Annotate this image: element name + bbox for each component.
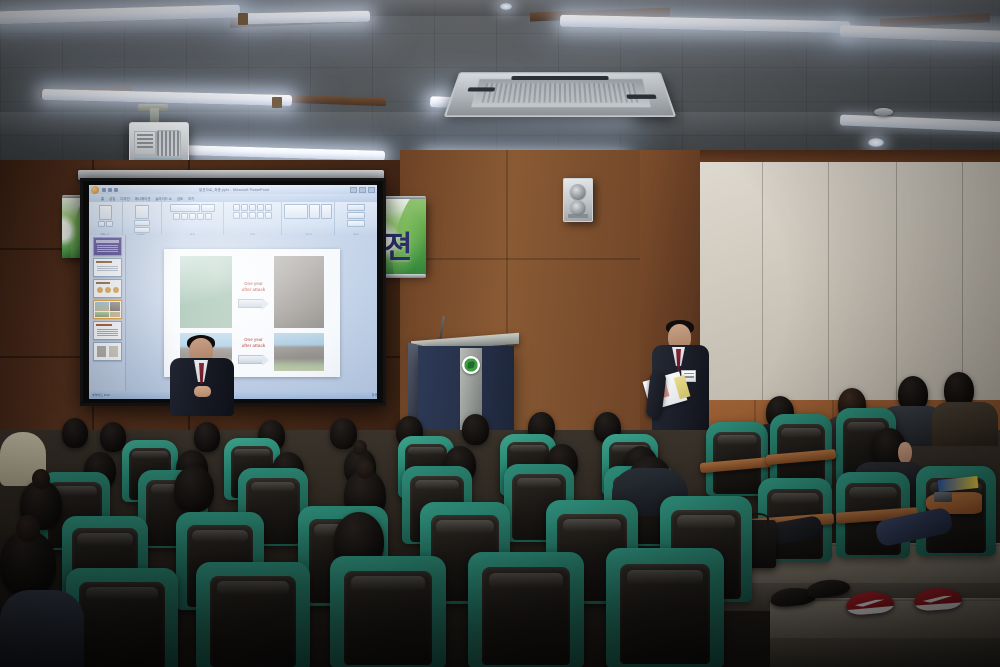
- shadow-button[interactable]: [197, 213, 204, 220]
- slide-image-aerial-after: [274, 256, 324, 328]
- clipboard-small-buttons[interactable]: [98, 221, 113, 227]
- ribbon-group-paragraph[interactable]: 단락: [224, 202, 282, 237]
- seat[interactable]: [606, 548, 724, 667]
- audience-face: [898, 442, 912, 464]
- ribbon-group-drawing[interactable]: 그리기: [282, 202, 335, 237]
- mobile-phone: [934, 492, 952, 502]
- lecture-hall-photo: 젼 발표자료_최종.pptx - Microsoft PowerPoint: [0, 0, 1000, 667]
- paragraph-row-2[interactable]: [233, 212, 272, 219]
- seat-gloss: [192, 530, 248, 543]
- slide-thumbnail[interactable]: [93, 237, 122, 256]
- slide-caption-top: One year after attack: [236, 281, 272, 292]
- select-button[interactable]: [347, 220, 365, 227]
- slide-thumbnail[interactable]: [93, 258, 122, 277]
- seat-gloss: [677, 515, 736, 529]
- seat-gloss: [849, 487, 896, 498]
- copy-button[interactable]: [106, 221, 113, 227]
- seat-gloss: [717, 435, 757, 445]
- arrange-button[interactable]: [309, 204, 320, 219]
- slide-caption-bottom: One year after attack: [236, 337, 272, 348]
- slide-image-field-after: [274, 333, 324, 371]
- undo-icon[interactable]: [108, 188, 112, 192]
- ribbon-group-clipboard[interactable]: 클립보드: [89, 202, 123, 237]
- new-slide-button[interactable]: [135, 205, 149, 219]
- seat-gloss: [627, 570, 703, 586]
- ribbon-group-slides[interactable]: 슬라이드: [123, 202, 162, 237]
- audience-shoulders: [932, 402, 998, 446]
- office-orb-icon[interactable]: [91, 186, 99, 194]
- wall-acoustic-panel: [700, 162, 1000, 407]
- slide-thumbnail-selected[interactable]: [93, 300, 122, 319]
- presenter: [170, 336, 234, 412]
- ribbon-group-editing[interactable]: 편집: [335, 202, 377, 237]
- podium-emblem-icon: [462, 356, 480, 374]
- maximize-icon[interactable]: [359, 187, 366, 193]
- seating-tier-2-face: [770, 638, 1000, 667]
- audience-head: [462, 414, 489, 445]
- font-name-row[interactable]: [170, 204, 215, 212]
- seat-gloss: [415, 480, 460, 490]
- slide-arrow-top: [238, 299, 264, 308]
- seat-gloss: [563, 519, 622, 533]
- paragraph-row-1[interactable]: [233, 204, 272, 211]
- seat-gloss: [77, 533, 132, 545]
- audience-shoulders: [0, 590, 84, 667]
- panel-seam: [962, 162, 963, 407]
- minimize-icon[interactable]: [350, 187, 357, 193]
- font-style-row[interactable]: [173, 213, 212, 220]
- bold-button[interactable]: [173, 213, 180, 220]
- window-buttons[interactable]: [350, 187, 375, 193]
- slide-thumbnail-panel[interactable]: [89, 235, 126, 391]
- caption-bottom-line1: One year: [244, 337, 263, 342]
- underline-button[interactable]: [189, 213, 196, 220]
- panel-seam: [828, 162, 829, 407]
- italic-button[interactable]: [181, 213, 188, 220]
- ac-grill: [481, 83, 638, 102]
- projector-control-panel: [134, 131, 156, 155]
- slide-thumbnail[interactable]: [93, 279, 122, 298]
- columns-button[interactable]: [265, 212, 272, 219]
- ac-vent-right: [626, 95, 657, 99]
- seat-gloss: [408, 447, 444, 455]
- editing-row-2[interactable]: [347, 212, 365, 219]
- tab-view[interactable]: 보기: [188, 196, 194, 201]
- slide-thumbnail[interactable]: [93, 321, 122, 340]
- panel-seam: [896, 162, 897, 407]
- audience-head: [194, 422, 220, 452]
- seat-gloss: [510, 445, 546, 453]
- ac-vent-left: [467, 87, 495, 91]
- seat-gloss: [86, 587, 158, 601]
- speaker-label: [568, 214, 588, 218]
- status-language: 한국어: [372, 393, 377, 397]
- ceiling-air-conditioner: [444, 72, 677, 117]
- slide-thumbnail[interactable]: [93, 342, 122, 361]
- seat-gloss: [771, 493, 818, 504]
- slides-small-buttons[interactable]: [134, 220, 150, 226]
- indent-decrease-button[interactable]: [249, 204, 256, 211]
- editing-row-1[interactable]: [347, 204, 365, 211]
- numbering-button[interactable]: [241, 204, 248, 211]
- audience-head: [62, 418, 88, 448]
- line-spacing-button[interactable]: [265, 204, 272, 211]
- wall-speaker: [563, 178, 593, 222]
- caption-top-line2: after attack: [242, 287, 265, 292]
- align-left-button[interactable]: [233, 212, 240, 219]
- save-icon[interactable]: [102, 188, 106, 192]
- light-end-cap-1: [238, 13, 248, 25]
- audience-head: [174, 466, 214, 512]
- speaker-cone-top: [570, 184, 587, 201]
- quick-access-toolbar[interactable]: [102, 188, 118, 192]
- close-icon[interactable]: [368, 187, 375, 193]
- ppt-window-title: 발표자료_최종.pptx - Microsoft PowerPoint: [118, 187, 350, 192]
- font-color-button[interactable]: [205, 213, 212, 220]
- seat-gloss: [489, 573, 563, 588]
- tab-review[interactable]: 검토: [177, 196, 183, 201]
- seat-gloss: [132, 451, 168, 459]
- indent-increase-button[interactable]: [257, 204, 264, 211]
- seat-gloss: [781, 428, 821, 438]
- seat[interactable]: [330, 556, 446, 667]
- bullets-button[interactable]: [233, 204, 240, 211]
- seat[interactable]: [468, 552, 584, 667]
- ribbon-group-font[interactable]: 글꼴: [162, 202, 224, 237]
- align-right-button[interactable]: [249, 212, 256, 219]
- shapes-gallery[interactable]: [284, 204, 308, 219]
- seat-gloss: [251, 482, 296, 492]
- banner-text-right: 젼: [384, 222, 412, 267]
- ac-vent-top: [511, 76, 608, 80]
- ppt-ribbon-tabs[interactable]: 홈 삽입 디자인 애니메이션 슬라이드 쇼 검토 보기: [89, 194, 377, 202]
- font-family-select[interactable]: [170, 204, 200, 212]
- tab-insert[interactable]: 삽입: [109, 196, 115, 201]
- seat-gloss: [517, 478, 562, 488]
- shapes-row[interactable]: [284, 204, 332, 219]
- nike-swoosh-icon: [922, 595, 952, 603]
- tab-home[interactable]: 홈: [101, 196, 104, 201]
- panel-seam: [762, 162, 763, 407]
- seat-gloss: [436, 520, 494, 533]
- seat-gloss: [351, 576, 425, 591]
- recessed-downlight: [868, 138, 884, 147]
- seat[interactable]: [196, 562, 310, 667]
- justify-button[interactable]: [257, 212, 264, 219]
- slide-arrow-bottom: [238, 355, 264, 364]
- replace-button[interactable]: [347, 212, 365, 219]
- paste-button[interactable]: [99, 205, 112, 220]
- audience-head: [0, 530, 56, 596]
- quick-styles-button[interactable]: [321, 204, 332, 219]
- font-size-select[interactable]: [201, 204, 215, 212]
- seat-gloss: [234, 449, 270, 457]
- ppt-title-bar: 발표자료_최종.pptx - Microsoft PowerPoint: [89, 185, 377, 194]
- standing-man: [648, 320, 712, 444]
- nike-swoosh-icon: [854, 599, 884, 607]
- caption-bottom-line2: after attack: [242, 343, 265, 348]
- tab-animation[interactable]: 애니메이션: [135, 196, 151, 201]
- find-button[interactable]: [347, 204, 365, 211]
- seat-gloss: [217, 581, 290, 595]
- slide-image-aerial-before: [180, 256, 232, 328]
- layout-button[interactable]: [134, 220, 150, 226]
- caption-top-line1: One year: [244, 281, 263, 286]
- light-end-cap-2: [272, 97, 282, 108]
- slide-editing-stage: One year after attack One year after att…: [126, 235, 377, 391]
- status-slide-number: 슬라이드 6/12: [92, 393, 110, 397]
- projector-lens: [156, 130, 181, 157]
- ppt-ribbon[interactable]: 클립보드 슬라이드: [89, 202, 377, 236]
- smoke-detector: [874, 108, 893, 116]
- tab-design[interactable]: 디자인: [120, 196, 129, 201]
- tab-slideshow[interactable]: 슬라이드 쇼: [155, 196, 172, 201]
- cut-button[interactable]: [98, 221, 105, 227]
- presenter-hands: [194, 386, 211, 397]
- editing-row-3[interactable]: [347, 220, 365, 227]
- recessed-downlight-2: [500, 3, 512, 10]
- align-center-button[interactable]: [241, 212, 248, 219]
